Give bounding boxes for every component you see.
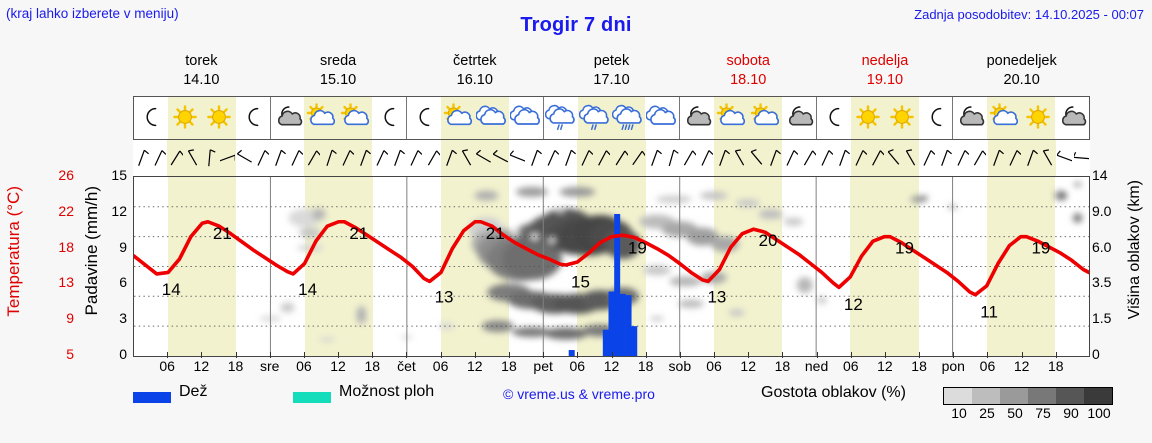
temperature-label: 21 (213, 224, 232, 243)
plot-canvas: 142114211321151913201219111914 (134, 177, 1089, 356)
day-date: 20.10 (953, 71, 1090, 90)
day-header-4: sobota18.10 (680, 52, 817, 92)
cloud-height-axis-title: Višina oblakov (km) (1126, 180, 1144, 319)
wind-barb (389, 140, 406, 176)
cloud-icon (475, 97, 509, 139)
x-tick-12: 12 (467, 358, 483, 374)
wind-barb (1022, 140, 1039, 176)
day-name: sobota (680, 52, 817, 71)
precipitation-tick-3: 6 (111, 274, 127, 290)
x-tick-18: 18 (228, 358, 244, 374)
x-tick-mark (1056, 352, 1057, 358)
wind-barb (372, 140, 389, 176)
sun-cloud-icon (748, 97, 782, 139)
precipitation-tick-5: 0 (111, 346, 127, 362)
cloud-ramp-label-50: 50 (1007, 405, 1023, 421)
temperature-label: 20 (759, 231, 778, 250)
x-tick-mark (680, 352, 681, 358)
cloud-ramp-step-25 (972, 388, 1000, 404)
temperature-label: 21 (486, 224, 505, 243)
x-tick-pet: pet (533, 358, 552, 374)
wind-barb (936, 140, 953, 176)
wind-barb (133, 140, 150, 176)
wind-barb (1056, 140, 1073, 176)
wind-day-0 (133, 140, 270, 176)
cloud-cover-field (259, 182, 1082, 342)
day-date: 17.10 (543, 71, 680, 90)
wind-barb (150, 140, 167, 176)
day-name: nedelja (817, 52, 954, 71)
day-date: 15.10 (270, 71, 407, 90)
wind-barb (236, 140, 253, 176)
x-tick-mark (851, 352, 852, 358)
wind-barb (321, 140, 338, 176)
day-name: petek (543, 52, 680, 71)
x-tick-pon: pon (942, 358, 965, 374)
x-tick-mark (304, 352, 305, 358)
wind-barb (885, 140, 902, 176)
precipitation-tick-4: 3 (111, 310, 127, 326)
x-tick-mark (646, 352, 647, 358)
x-tick-mark (236, 352, 237, 358)
day-date: 14.10 (133, 71, 270, 90)
wind-barb (424, 140, 441, 176)
cloud-height-tick-0: 14 (1092, 167, 1126, 183)
wind-barb-strip (133, 140, 1090, 176)
wind-barb (355, 140, 372, 176)
wind-barb (800, 140, 817, 176)
wind-barb (731, 140, 748, 176)
legend-label-showers: Možnost ploh (339, 383, 434, 401)
x-tick-mark (1022, 352, 1023, 358)
wind-day-6 (953, 140, 1090, 176)
day-header-3: petek17.10 (543, 52, 680, 92)
wind-barb (646, 140, 663, 176)
precipitation-tick-0: 15 (111, 167, 127, 183)
x-tick-mark (748, 352, 749, 358)
precip-bar (620, 294, 626, 356)
day-date: 19.10 (817, 71, 954, 90)
x-tick-12: 12 (604, 358, 620, 374)
day-date: 18.10 (680, 71, 817, 90)
wind-barb (697, 140, 714, 176)
x-tick-12: 12 (330, 358, 346, 374)
wind-barb (509, 140, 526, 176)
wind-barb (868, 140, 885, 176)
icon-day-3 (544, 97, 681, 139)
sun-icon (851, 97, 885, 139)
x-tick-18: 18 (638, 358, 654, 374)
temperature-tick-2: 18 (40, 239, 74, 255)
cloud-height-tick-4: 1.5 (1092, 310, 1126, 326)
wind-barb (338, 140, 355, 176)
cloud-height-tick-5: 0 (1092, 346, 1126, 362)
x-tick-mark (953, 352, 954, 358)
wind-barb (458, 140, 475, 176)
temperature-label: 14 (162, 280, 181, 299)
wind-day-1 (270, 140, 407, 176)
x-tick-mark (885, 352, 886, 358)
day-header-row: torek14.10sreda15.10četrtek16.10petek17.… (133, 52, 1090, 92)
x-tick-čet: čet (397, 358, 416, 374)
sun-cloud-icon (304, 97, 338, 139)
wind-barb (594, 140, 611, 176)
x-tick-mark (372, 352, 373, 358)
x-tick-18: 18 (911, 358, 927, 374)
wind-barb (953, 140, 970, 176)
wind-barb (663, 140, 680, 176)
cloud-ramp-step-50 (1000, 388, 1028, 404)
day-name: torek (133, 52, 270, 71)
wind-barb (492, 140, 509, 176)
icon-day-5 (817, 97, 954, 139)
wind-barb (287, 140, 304, 176)
wind-barb (817, 140, 834, 176)
moon-cloud-icon (782, 97, 816, 139)
wind-barb (184, 140, 201, 176)
wind-barb (270, 140, 287, 176)
temperature-label: 21 (349, 224, 368, 243)
x-tick-mark (714, 352, 715, 358)
wind-barb (988, 140, 1005, 176)
temperature-tick-3: 13 (40, 274, 74, 290)
x-tick-06: 06 (843, 358, 859, 374)
wind-barb (167, 140, 184, 176)
x-tick-sob: sob (669, 358, 692, 374)
temperature-tick-4: 9 (40, 310, 74, 326)
wind-day-5 (817, 140, 954, 176)
x-tick-mark (612, 352, 613, 358)
wind-barb (748, 140, 765, 176)
moon-icon (236, 97, 270, 139)
wind-barb (475, 140, 492, 176)
x-tick-18: 18 (501, 358, 517, 374)
temperature-label: 19 (1031, 239, 1050, 258)
wind-barb (526, 140, 543, 176)
sun-icon (168, 97, 202, 139)
temperature-axis-title: Temperatura (°C) (4, 186, 24, 317)
day-name: četrtek (406, 52, 543, 71)
x-tick-mark (338, 352, 339, 358)
wind-day-3 (543, 140, 680, 176)
cloud-ramp-step-100 (1084, 388, 1112, 404)
precip-bar (603, 330, 609, 356)
temperature-label: 13 (435, 287, 454, 306)
temperature-label: 12 (844, 295, 863, 314)
legend: Dež Možnost ploh © vreme.us & vreme.pro … (133, 386, 1143, 426)
icon-day-2 (407, 97, 544, 139)
wind-barb (680, 140, 697, 176)
cloud-ramp-step-90 (1056, 388, 1084, 404)
x-tick-mark (201, 352, 202, 358)
cloud-rain-heavy-icon (612, 97, 646, 139)
cloud-ramp-label-25: 25 (979, 405, 995, 421)
wind-barb (782, 140, 799, 176)
wind-barb (1005, 140, 1022, 176)
day-header-5: nedelja19.10 (817, 52, 954, 92)
weather-icon-strip (133, 96, 1090, 140)
precipitation-tick-2: 9 (111, 239, 127, 255)
icon-day-6 (953, 97, 1089, 139)
x-tick-mark (817, 352, 818, 358)
wind-barb (612, 140, 629, 176)
moon-cloud-icon (1055, 97, 1089, 139)
x-tick-06: 06 (296, 358, 312, 374)
cloud-rain-icon (544, 97, 578, 139)
moon-icon (817, 97, 851, 139)
temperature-label: 15 (571, 273, 590, 292)
icon-day-4 (680, 97, 817, 139)
x-tick-mark (782, 352, 783, 358)
sun-icon (202, 97, 236, 139)
day-name: sreda (270, 52, 407, 71)
day-name: ponedeljek (953, 52, 1090, 71)
cloud-rain-icon (578, 97, 612, 139)
x-tick-mark (441, 352, 442, 358)
moon-icon (407, 97, 441, 139)
precipitation-tick-1: 12 (111, 203, 127, 219)
cloud-height-tick-3: 3.5 (1092, 274, 1126, 290)
wind-barb (902, 140, 919, 176)
sun-icon (1021, 97, 1055, 139)
cloud-density-color-ramp (943, 387, 1113, 405)
x-tick-12: 12 (1014, 358, 1030, 374)
day-header-6: ponedeljek20.10 (953, 52, 1090, 92)
x-tick-06: 06 (706, 358, 722, 374)
moon-icon (134, 97, 168, 139)
x-tick-mark (577, 352, 578, 358)
wind-barb (1039, 140, 1056, 176)
cloud-ramp-label-100: 100 (1087, 405, 1110, 421)
sun-cloud-icon (338, 97, 372, 139)
moon-cloud-icon (953, 97, 987, 139)
x-tick-06: 06 (570, 358, 586, 374)
x-axis-ticks: 061218sre061218čet061218pet061218sob0612… (133, 358, 1090, 380)
wind-barb (560, 140, 577, 176)
moon-cloud-icon (680, 97, 714, 139)
x-tick-06: 06 (159, 358, 175, 374)
temperature-label: 14 (298, 280, 317, 299)
x-tick-18: 18 (775, 358, 791, 374)
x-tick-sre: sre (260, 358, 279, 374)
x-tick-mark (543, 352, 544, 358)
legend-label-rain: Dež (179, 383, 207, 401)
legend-swatch-showers (293, 392, 331, 403)
day-date: 16.10 (406, 71, 543, 90)
last-updated-text: Zadnja posodobitev: 14.10.2025 - 00:07 (914, 7, 1144, 22)
temperature-tick-0: 26 (40, 167, 74, 183)
precip-bar (631, 326, 637, 356)
wind-barb (577, 140, 594, 176)
sun-icon (885, 97, 919, 139)
wind-barb (543, 140, 560, 176)
icon-day-0 (134, 97, 271, 139)
x-tick-12: 12 (877, 358, 893, 374)
wind-barb (919, 140, 936, 176)
cloud-ramp-label-90: 90 (1063, 405, 1079, 421)
x-tick-mark (987, 352, 988, 358)
wind-barb (851, 140, 868, 176)
meteogram-plot: 142114211321151913201219111914 (133, 176, 1090, 357)
temperature-tick-5: 5 (40, 346, 74, 362)
cloud-density-legend-title: Gostota oblakov (%) (761, 384, 906, 402)
wind-barb (406, 140, 423, 176)
wind-barb (834, 140, 851, 176)
moon-icon (372, 97, 406, 139)
copyright-text: © vreme.us & vreme.pro (503, 386, 655, 402)
cloud-ramp-step-75 (1028, 388, 1056, 404)
x-tick-mark (509, 352, 510, 358)
cloud-icon (645, 97, 679, 139)
cloud-icon (509, 97, 543, 139)
wind-day-4 (680, 140, 817, 176)
precip-bar (626, 295, 632, 356)
x-tick-06: 06 (980, 358, 996, 374)
cloud-ramp-label-10: 10 (951, 405, 967, 421)
cloud-density-ramp-labels: 1025507590100 (939, 405, 1119, 423)
day-header-1: sreda15.10 (270, 52, 407, 92)
x-tick-12: 12 (194, 358, 210, 374)
x-tick-06: 06 (433, 358, 449, 374)
temperature-label: 13 (707, 287, 726, 306)
x-tick-mark (406, 352, 407, 358)
moon-cloud-icon (271, 97, 305, 139)
cloud-height-tick-1: 9.0 (1092, 203, 1126, 219)
wind-barb (970, 140, 987, 176)
moon-icon (919, 97, 953, 139)
x-tick-ned: ned (805, 358, 828, 374)
wind-barb (253, 140, 270, 176)
temperature-label: 19 (895, 239, 914, 258)
wind-barb (304, 140, 321, 176)
wind-barb (441, 140, 458, 176)
x-tick-18: 18 (1048, 358, 1064, 374)
cloud-height-tick-2: 6.0 (1092, 239, 1126, 255)
precip-bar (569, 350, 575, 356)
cloud-ramp-step-10 (944, 388, 972, 404)
precipitation-axis-title: Padavine (mm/h) (82, 186, 102, 315)
wind-barb (765, 140, 782, 176)
day-header-0: torek14.10 (133, 52, 270, 92)
temperature-label: 19 (628, 239, 647, 258)
wind-day-2 (406, 140, 543, 176)
sun-cloud-icon (987, 97, 1021, 139)
sun-cloud-icon (714, 97, 748, 139)
cloud-ramp-label-75: 75 (1035, 405, 1051, 421)
x-tick-18: 18 (364, 358, 380, 374)
icon-day-1 (271, 97, 408, 139)
wind-barb (629, 140, 646, 176)
x-tick-mark (475, 352, 476, 358)
sun-cloud-icon (441, 97, 475, 139)
x-tick-12: 12 (740, 358, 756, 374)
wind-barb (714, 140, 731, 176)
precip-bar (609, 292, 615, 356)
wind-barb (201, 140, 218, 176)
x-tick-mark (167, 352, 168, 358)
temperature-tick-1: 22 (40, 203, 74, 219)
wind-barb (1073, 140, 1090, 176)
day-header-2: četrtek16.10 (406, 52, 543, 92)
temperature-label: 11 (980, 302, 998, 321)
wind-barb (218, 140, 235, 176)
x-tick-mark (270, 352, 271, 358)
x-tick-mark (919, 352, 920, 358)
legend-swatch-rain (133, 392, 171, 403)
